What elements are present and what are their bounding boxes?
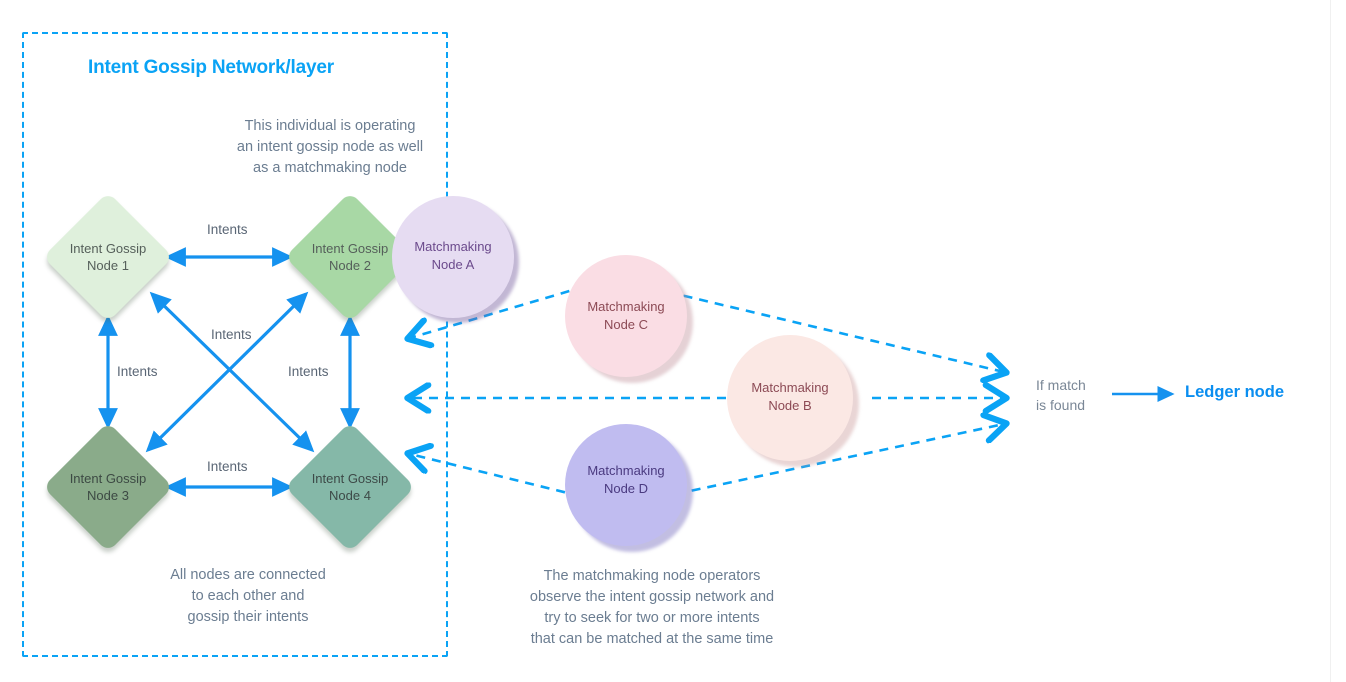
intent-gossip-node-1-label: Intent Gossip Node 1: [48, 240, 168, 274]
page-edge-divider: [1330, 0, 1331, 682]
edge-label-diagonal: Intents: [211, 327, 252, 342]
note-individual-operator: This individual is operating an intent g…: [222, 116, 438, 179]
diagram-canvas: Intent Gossip Network/layer This individ…: [0, 0, 1346, 682]
if-match-found-label: If match is found: [1036, 375, 1086, 415]
edge-label-node2-node4: Intents: [288, 364, 329, 379]
note-matchmaking-operators: The matchmaking node operators observe t…: [470, 566, 834, 650]
matchmaking-node-c-label: Matchmaking Node C: [561, 298, 691, 334]
intent-gossip-node-4-label: Intent Gossip Node 4: [290, 470, 410, 504]
page-title: Intent Gossip Network/layer: [88, 57, 334, 79]
edge-label-node1-node2: Intents: [207, 222, 248, 237]
note-all-nodes-connected: All nodes are connected to each other an…: [98, 565, 398, 628]
matchmaking-node-a-label: Matchmaking Node A: [388, 238, 518, 274]
intent-gossip-node-3-label: Intent Gossip Node 3: [48, 470, 168, 504]
edge-label-node1-node3: Intents: [117, 364, 158, 379]
edge-label-node3-node4: Intents: [207, 459, 248, 474]
matchmaking-node-b-label: Matchmaking Node B: [725, 379, 855, 415]
ledger-node-label[interactable]: Ledger node: [1185, 383, 1284, 402]
matchmaking-node-d-label: Matchmaking Node D: [561, 462, 691, 498]
